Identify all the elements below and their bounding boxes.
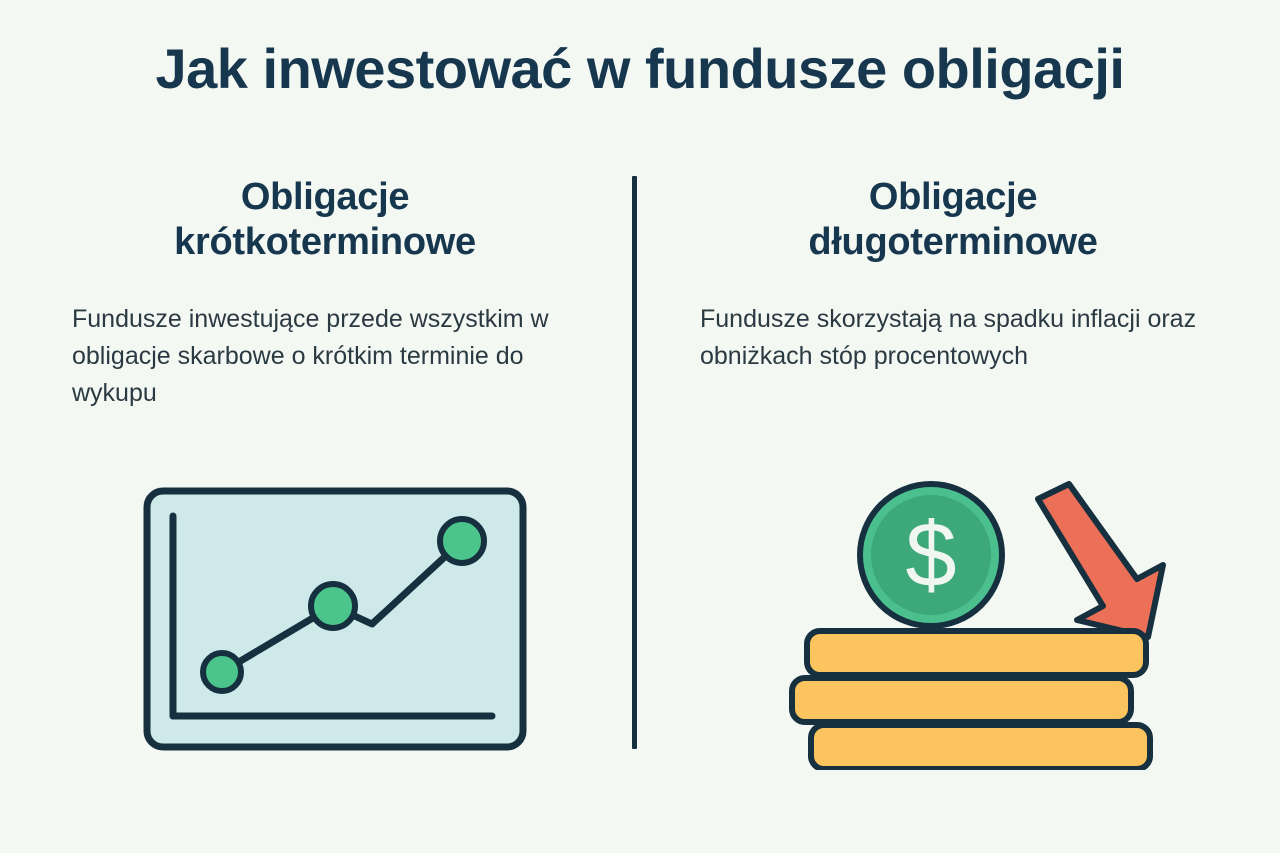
column-heading-line2: długoterminowe — [808, 221, 1097, 263]
column-body-long-term: Fundusze skorzystają na spadku inflacji … — [668, 301, 1238, 375]
column-heading-line1: Obligacje — [241, 176, 409, 218]
page-title: Jak inwestować w fundusze obligacji — [0, 38, 1280, 100]
coin-stack-bar — [807, 631, 1146, 675]
column-heading-line2: krótkoterminowe — [174, 221, 476, 263]
dollar-coin-icon: $ — [860, 484, 1002, 626]
column-heading-short-term: Obligacje krótkoterminowe — [40, 175, 610, 265]
dollar-sign-glyph: $ — [905, 504, 956, 606]
line-chart-illustration — [140, 484, 530, 754]
column-short-term: Obligacje krótkoterminowe Fundusze inwes… — [40, 175, 610, 412]
coin-stack-bar — [792, 678, 1131, 722]
coin-stack-down-arrow-icon: $ — [780, 470, 1180, 770]
column-heading-long-term: Obligacje długoterminowe — [668, 175, 1238, 265]
chart-marker — [440, 519, 484, 563]
column-divider — [632, 176, 637, 749]
arrow-shape — [1038, 484, 1163, 637]
down-right-arrow-icon — [1038, 484, 1163, 637]
coin-stack-illustration: $ — [780, 470, 1180, 770]
chart-marker — [203, 653, 241, 691]
infographic-canvas: Jak inwestować w fundusze obligacji Obli… — [0, 0, 1280, 853]
column-long-term: Obligacje długoterminowe Fundusze skorzy… — [668, 175, 1238, 375]
line-chart-icon — [140, 484, 530, 754]
coin-stack-bar — [811, 725, 1150, 769]
column-heading-line1: Obligacje — [869, 176, 1037, 218]
coin-stack-bars — [792, 631, 1150, 769]
chart-marker — [311, 584, 355, 628]
column-body-short-term: Fundusze inwestujące przede wszystkim w … — [40, 301, 610, 412]
